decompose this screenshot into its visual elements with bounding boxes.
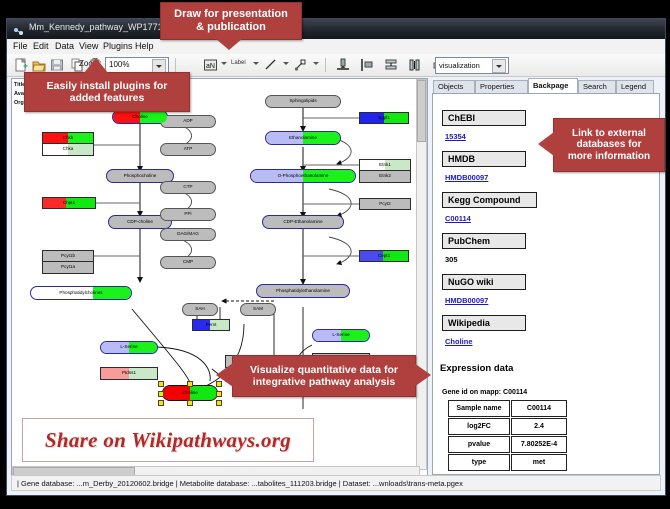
gene-label: Etnk1 (379, 163, 391, 168)
callout-plugins-arrow (84, 58, 108, 73)
db-header-pubchem: PubChem (442, 233, 526, 249)
tab-objects[interactable]: Objects (433, 80, 475, 93)
callout-visualize-arrow-right (414, 363, 431, 387)
stack-center-icon[interactable] (383, 57, 399, 73)
db-link-hmdb[interactable]: HMDB00097 (445, 173, 488, 182)
callout-plugins-line2: added features (70, 92, 145, 104)
toolbar-divider (175, 58, 176, 72)
cell-value: 7.80252E-4 (511, 436, 567, 453)
datanode-icon[interactable]: aN (203, 57, 219, 73)
node-dagmag[interactable]: DAG/MAG (160, 228, 216, 241)
db-header-hmdb: HMDB (442, 151, 526, 167)
menubar: File Edit Data View Plugins Help (7, 39, 665, 55)
svg-text:aN: aN (206, 63, 215, 70)
db-link-chebi[interactable]: 15354 (445, 132, 466, 141)
node-ethanolamine-top[interactable]: Ethanolamine (265, 131, 341, 145)
cell-value: C00114 (511, 400, 567, 417)
menu-file[interactable]: File (13, 41, 28, 51)
node-atp[interactable]: ATP (160, 143, 216, 156)
gene-label: Sgpl1 (378, 116, 390, 121)
table-row: pvalue 7.80252E-4 (448, 436, 567, 453)
cell-value: 2.4 (511, 418, 567, 435)
selection-handle-sw[interactable] (158, 400, 164, 406)
gene-etnk2[interactable]: Etnk2 (359, 171, 411, 183)
gene-label: Pcyt1b (61, 254, 75, 259)
label-tool-text[interactable]: Label (231, 60, 246, 66)
node-label: PPi (184, 212, 191, 217)
selection-handle-s[interactable] (187, 400, 193, 406)
node-label: O-Phosphoethanolamine (278, 174, 329, 179)
node-choline-selected[interactable]: Choline (162, 385, 218, 401)
selection-handle-se[interactable] (216, 400, 222, 406)
cell-key: type (448, 454, 510, 471)
node-label: Phosphatidylcholines (59, 291, 102, 296)
node-label: CTP (183, 185, 192, 190)
visualization-chevron-down-icon[interactable] (492, 59, 506, 73)
db-header-chebi: ChEBI (442, 110, 526, 126)
gene-id-line: Gene id on mapp: C00114 (442, 389, 527, 396)
chevron-down-icon[interactable] (152, 59, 166, 73)
node-choline-top[interactable]: Choline (112, 110, 168, 124)
db-link-kegg-compound[interactable]: C00114 (445, 214, 471, 223)
node-cdp-ethanolamine[interactable]: CDP-Ethanolamine (262, 215, 344, 229)
visualization-value: visualization (439, 61, 480, 70)
gene-chkb[interactable]: Chkb (42, 132, 94, 144)
tab-properties[interactable]: Properties (475, 80, 528, 93)
callout-plugins: Easily install plugins for added feature… (24, 72, 190, 112)
node-label: L-Serine (332, 333, 349, 338)
gene-etnk1[interactable]: Etnk1 (359, 159, 411, 171)
node-label: CDP-Ethanolamine (283, 220, 322, 225)
open-file-icon[interactable] (31, 57, 47, 73)
db-link-nugo-wiki[interactable]: HMDB00097 (445, 296, 488, 305)
toolbar-divider-2 (325, 58, 326, 72)
datanode-dropdown-icon[interactable] (221, 62, 227, 65)
node-label: ATP (184, 147, 193, 152)
callout-visualize-arrow-left (216, 363, 233, 387)
common-width-icon[interactable] (407, 57, 423, 73)
node-sphingolipids[interactable]: Sphingolipids (265, 95, 341, 108)
gene-chpt1[interactable]: Chpt1 (42, 197, 96, 209)
callout-visualize-line2: integrative pathway analysis (253, 376, 395, 388)
node-phosphatidylcholines[interactable]: Phosphatidylcholines (30, 286, 132, 300)
menu-edit[interactable]: Edit (33, 41, 49, 51)
callout-link: Link to external databases for more info… (553, 118, 665, 172)
zoom-value: 100% (109, 60, 129, 69)
gene-label: Chka (63, 147, 74, 152)
gene-label: Pcyt2 (379, 202, 391, 207)
db-value-pubchem: 305 (445, 255, 458, 264)
callout-draw-line1: Draw for presentation (174, 8, 288, 21)
node-label: Phosphocholine (124, 174, 157, 179)
cell-value: met (511, 454, 567, 471)
gene-cept1[interactable]: Cept1 (359, 250, 409, 262)
callout-draw-line2: & publication (196, 21, 266, 34)
db-header-nugo-wiki: NuGO wiki (442, 274, 526, 290)
gene-pemt[interactable]: Pemt (192, 319, 230, 331)
node-adp[interactable]: ADP (160, 115, 216, 128)
callout-share: Share on Wikipathways.org (22, 418, 314, 462)
node-l-serine-right[interactable]: L-Serine (312, 329, 370, 342)
node-label: Phosphatidylethanolamine (276, 289, 330, 294)
align-bottom-icon[interactable] (335, 57, 351, 73)
line-dropdown-icon[interactable] (283, 62, 289, 65)
node-label: L-Serine (120, 345, 137, 350)
callout-link-line2: databases for (576, 139, 641, 151)
node-cmp[interactable]: CMP (160, 256, 216, 269)
menu-data[interactable]: Data (55, 41, 74, 51)
new-file-icon[interactable] (13, 57, 29, 73)
node-label: Choline (132, 115, 148, 120)
node-ppi[interactable]: PPi (160, 208, 216, 221)
cell-key: Sample name (448, 400, 510, 417)
tab-legend[interactable]: Legend (616, 80, 654, 93)
status-bar: | Gene database: ...m_Derby_20120602.bri… (11, 475, 661, 491)
gene-label: Cept1 (378, 254, 390, 259)
menu-help[interactable]: Help (135, 41, 154, 51)
interaction-icon[interactable] (293, 57, 309, 73)
node-label: CDP-choline (127, 220, 153, 225)
gene-pcyt2[interactable]: Pcyt2 (359, 198, 411, 210)
canvas-vscrollbar[interactable] (416, 79, 427, 470)
expression-data-table: Sample name C00114 log2FC 2.4 pvalue 7.8… (447, 399, 568, 472)
node-label: SAM (253, 307, 263, 312)
gene-label: Chpt1 (63, 201, 75, 206)
gene-chka[interactable]: Chka (42, 144, 94, 156)
expression-data-heading: Expression data (440, 363, 513, 374)
align-left-icon[interactable] (359, 57, 375, 73)
selection-handle-nw[interactable] (158, 381, 164, 387)
node-sah[interactable]: SAH (182, 303, 218, 316)
tab-backpage[interactable]: Backpage (528, 78, 578, 93)
node-label: Ethanolamine (289, 136, 317, 141)
db-header-kegg-compound: Kegg Compound (442, 192, 537, 208)
label-dropdown-icon[interactable] (253, 62, 259, 65)
callout-share-text: Share on Wikipathways.org (45, 428, 291, 453)
node-label: ADP (183, 119, 192, 124)
callout-visualize: Visualize quantitative data for integrat… (232, 355, 416, 397)
cell-key: pvalue (448, 436, 510, 453)
callout-draw-arrow (215, 38, 243, 50)
node-l-serine-left[interactable]: L-Serine (100, 341, 158, 354)
selection-handle-e[interactable] (216, 391, 222, 397)
node-ctp[interactable]: CTP (160, 181, 216, 194)
callout-visualize-line1: Visualize quantitative data for (250, 364, 398, 376)
gene-ptdss1[interactable]: Ptdss1 (100, 367, 158, 380)
selection-handle-w[interactable] (158, 391, 164, 397)
canvas-vscroll-thumb[interactable] (417, 80, 426, 142)
app-icon (13, 24, 24, 35)
callout-link-arrow (538, 132, 554, 156)
selection-handle-n[interactable] (187, 381, 193, 387)
save-file-icon[interactable] (49, 57, 65, 73)
cell-key: log2FC (448, 418, 510, 435)
screenshot-root: Mm_Kennedy_pathway_WP1771_45176.gpml Fil… (0, 0, 670, 509)
node-label: SAH (195, 307, 204, 312)
window-titlebar: Mm_Kennedy_pathway_WP1771_45176.gpml (7, 19, 665, 40)
node-label: CMP (183, 260, 193, 265)
node-o-phosphoethanolamine[interactable]: O-Phosphoethanolamine (250, 169, 356, 183)
line-icon[interactable] (263, 57, 279, 73)
node-label: Choline (182, 391, 198, 396)
table-row: Sample name C00114 (448, 400, 567, 417)
tab-search[interactable]: Search (578, 80, 616, 93)
node-phosphatidylethanolamine[interactable]: Phosphatidylethanolamine (256, 284, 350, 298)
gene-pcyt1a[interactable]: Pcyt1a (42, 262, 94, 274)
node-label: Sphingolipids (289, 99, 316, 104)
node-sam[interactable]: SAM (240, 303, 276, 316)
interaction-dropdown-icon[interactable] (313, 62, 319, 65)
table-row: type met (448, 454, 567, 471)
gene-sgpl1[interactable]: Sgpl1 (359, 112, 409, 124)
gene-label: Pcyt1a (61, 265, 75, 270)
db-link-wikipedia[interactable]: Choline (445, 337, 473, 346)
callout-link-line3: more information (568, 151, 650, 163)
gene-label: Ptdss1 (122, 371, 136, 376)
callout-draw: Draw for presentation & publication (160, 2, 302, 40)
gene-label: Pemt (206, 323, 217, 328)
menu-plugins[interactable]: Plugins (103, 41, 133, 51)
gene-label: Etnk2 (379, 174, 391, 179)
callout-plugins-line1: Easily install plugins for (47, 80, 168, 92)
node-label: DAG/MAG (177, 232, 199, 237)
db-header-wikipedia: Wikipedia (442, 315, 526, 331)
gene-label: Chkb (63, 136, 74, 141)
gene-pcyt1b[interactable]: Pcyt1b (42, 250, 94, 262)
visualization-combobox[interactable]: visualization (435, 57, 509, 74)
table-row: log2FC 2.4 (448, 418, 567, 435)
status-bar-text: | Gene database: ...m_Derby_20120602.bri… (17, 479, 463, 488)
callout-link-line1: Link to external (572, 128, 646, 140)
menu-view[interactable]: View (79, 41, 98, 51)
